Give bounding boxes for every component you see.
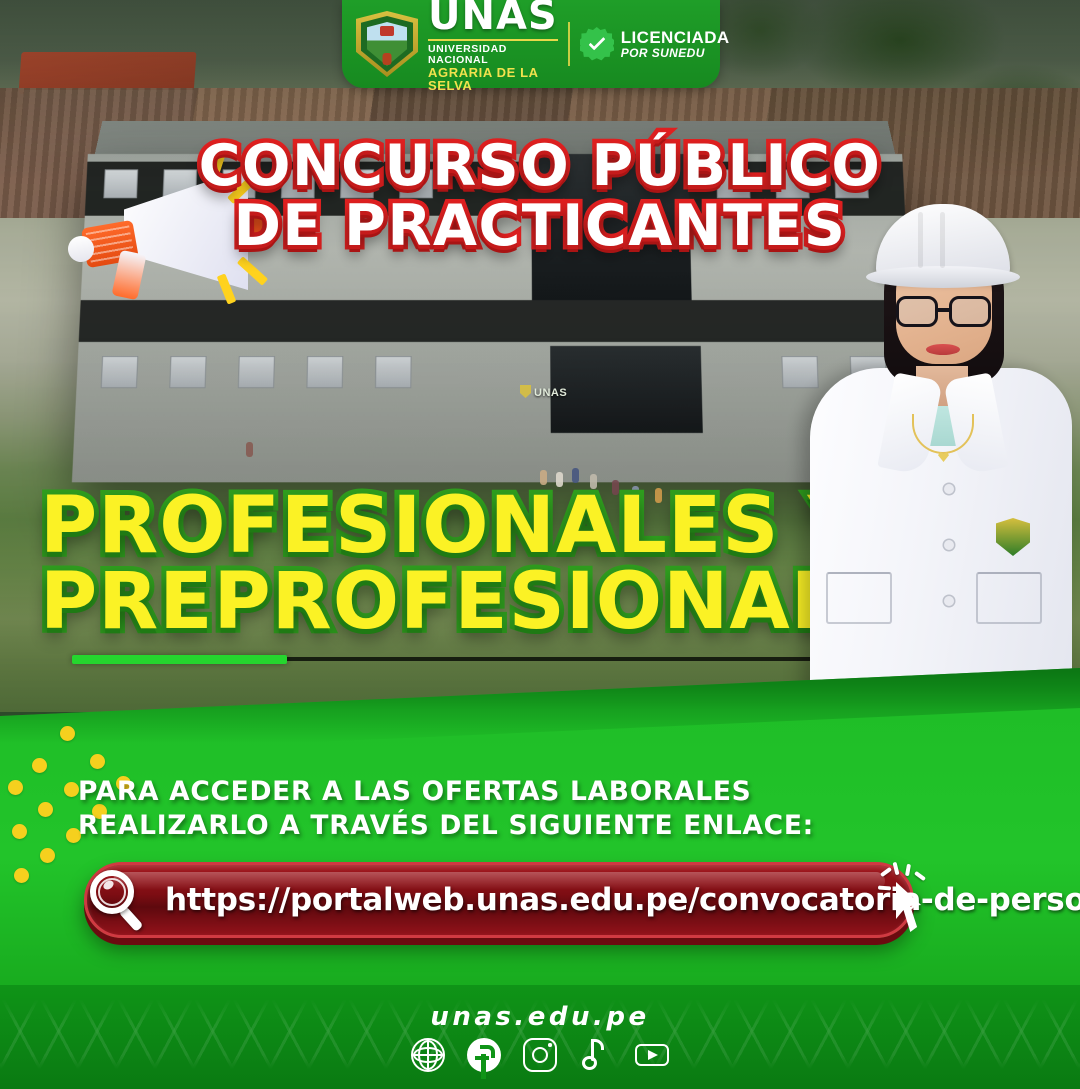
headline-underline: [72, 655, 287, 664]
poster-footer: [0, 985, 1080, 1089]
facebook-icon[interactable]: [467, 1038, 501, 1072]
globe-icon[interactable]: [411, 1038, 445, 1072]
magnifier-icon: [88, 868, 154, 934]
callout-instructions: PARA ACCEDER A LAS OFERTAS LABORALES REA…: [78, 775, 838, 844]
vertical-divider: [568, 22, 570, 66]
callout-line-2: REALIZARLO A TRAVÉS DEL SIGUIENTE ENLACE…: [78, 809, 838, 843]
poster-canvas: UNAS UNAS UNIVERSIDAD NACIONAL AGRARIA D…: [0, 0, 1080, 1089]
brand-line1: UNIVERSIDAD NACIONAL: [428, 44, 558, 65]
brand-line2: AGRARIA DE LA SELVA: [428, 66, 558, 92]
youtube-icon[interactable]: [635, 1038, 669, 1072]
callout-line-1: PARA ACCEDER A LAS OFERTAS LABORALES: [78, 775, 838, 809]
unas-header-banner: UNAS UNIVERSIDAD NACIONAL AGRARIA DE LA …: [342, 0, 720, 88]
unas-shield-crest-icon: [356, 11, 418, 77]
verified-check-icon: [580, 27, 614, 61]
person-photo-student: [800, 168, 1080, 712]
eyeglasses-left: [896, 296, 938, 327]
brand-name: UNAS: [428, 0, 558, 36]
instagram-icon[interactable]: [523, 1038, 557, 1072]
headline-underline-dark: [287, 657, 847, 661]
license-line2: POR SUNEDU: [621, 47, 730, 60]
url-link-button[interactable]: https://portalweb.unas.edu.pe/convocator…: [84, 862, 914, 938]
brand-block: UNAS UNIVERSIDAD NACIONAL AGRARIA DE LA …: [428, 0, 558, 92]
eyeglasses-right: [949, 296, 991, 327]
license-line1: LICENCIADA: [621, 29, 730, 47]
social-icons-row: [0, 1038, 1080, 1072]
brand-divider: [428, 39, 558, 41]
tiktok-icon[interactable]: [579, 1038, 613, 1072]
sunedu-license-badge: LICENCIADA POR SUNEDU: [580, 27, 730, 61]
mouse-cursor-click-icon: [876, 862, 948, 942]
website-text: unas.edu.pe: [0, 1002, 1080, 1032]
